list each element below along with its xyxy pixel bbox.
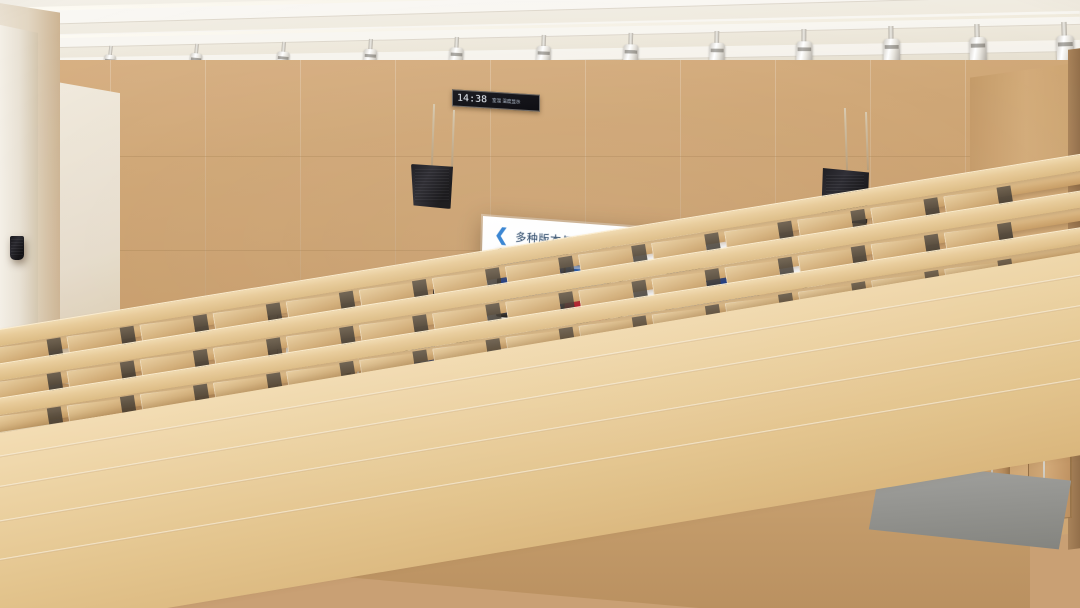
wall-speaker-far-left — [10, 236, 24, 260]
chevron-left-icon[interactable]: ❮ — [494, 226, 509, 244]
clock-aux-text: 室温 温度显示 — [492, 97, 520, 105]
lecture-hall-scene: 14:38 室温 温度显示 — [0, 0, 1080, 608]
clock-time: 14:38 — [457, 93, 487, 106]
line-array-speaker-left — [411, 164, 453, 209]
